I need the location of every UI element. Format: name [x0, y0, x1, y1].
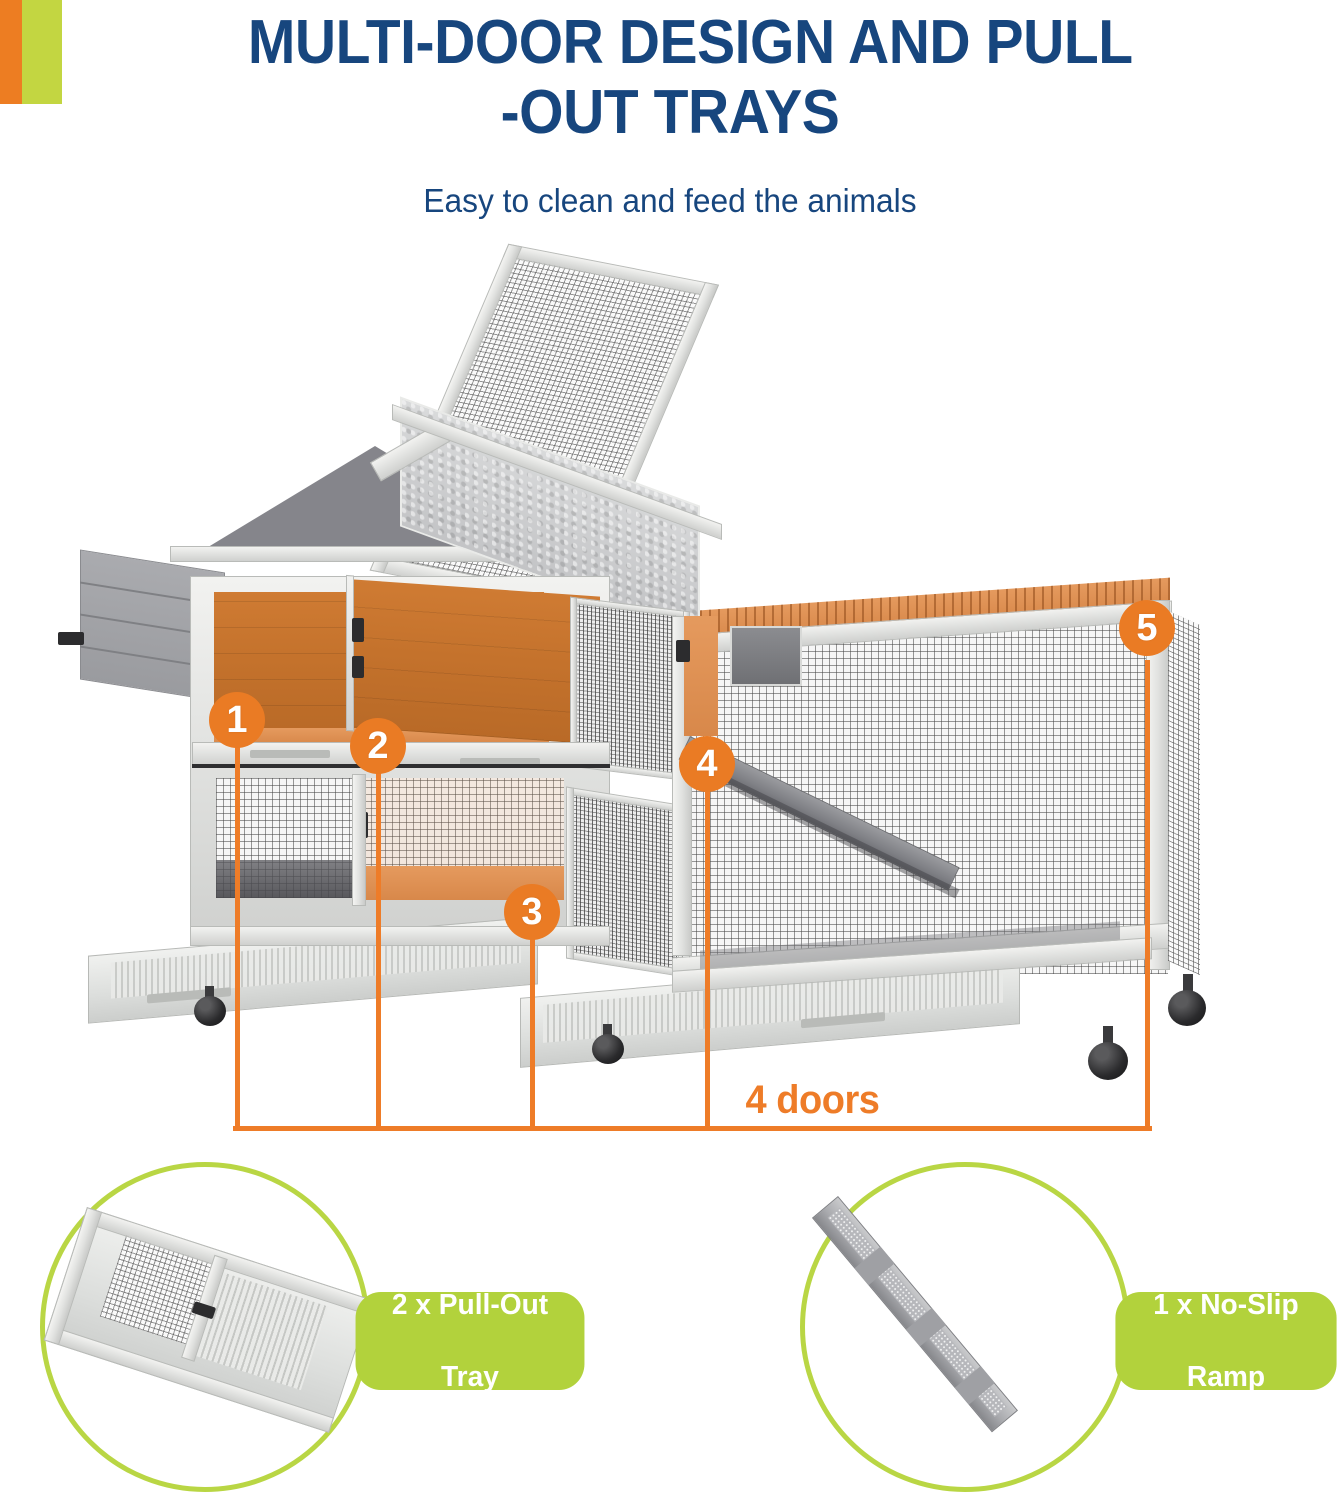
callout-badge-4[interactable]: 4: [679, 736, 735, 792]
run-interior-latch[interactable]: [676, 640, 690, 662]
feature-label-no-slip-ramp: 1 x No-Slip Ramp: [1115, 1292, 1336, 1390]
caster-wheel-2: [592, 1034, 624, 1064]
leader-line-2: [376, 770, 381, 1130]
page-subtitle: Easy to clean and feed the animals: [27, 182, 1313, 220]
leader-line-4: [705, 788, 710, 1130]
infographic-page: MULTI-DOOR DESIGN AND PULL -OUT TRAYS Ea…: [0, 0, 1340, 1500]
leader-line-1: [235, 740, 240, 1130]
caster-wheel-3: [1088, 1042, 1128, 1080]
run-inner-hatch: [730, 626, 802, 686]
callout-badge-1-label: 1: [226, 701, 247, 739]
callout-badge-5[interactable]: 5: [1119, 600, 1175, 656]
doors-count-label: 4 doors: [746, 1078, 880, 1123]
callout-badge-2-label: 2: [367, 727, 388, 765]
callout-badge-3-label: 3: [521, 893, 542, 931]
upper-door-hinge-top: [352, 618, 364, 642]
title-line-1: MULTI-DOOR DESIGN AND PULL: [54, 8, 1287, 78]
leader-line-3: [530, 938, 535, 1130]
tray-handle-upper[interactable]: [250, 750, 330, 758]
title-line-2: -OUT TRAYS: [54, 78, 1287, 148]
callout-badge-3[interactable]: 3: [504, 884, 560, 940]
callout-badge-4-label: 4: [696, 745, 717, 783]
lower-door-stile: [352, 774, 366, 906]
feature-label-pull-out-tray-line2: Tray: [376, 1359, 563, 1395]
run-right-side-mesh: [1168, 611, 1200, 975]
callout-bracket: [233, 1126, 1152, 1131]
upper-door-hinge-bottom: [352, 656, 364, 678]
lower-front-door-open[interactable]: [364, 778, 564, 900]
feature-label-no-slip-ramp-line2: Ramp: [1138, 1359, 1314, 1395]
caster-wheel-1: [194, 996, 226, 1026]
product-illustration: [0, 236, 1340, 1136]
run-interior-post: [684, 616, 718, 736]
side-door-latch[interactable]: [58, 632, 84, 645]
leader-line-5: [1145, 660, 1150, 1130]
feature-label-pull-out-tray-line1: 2 x Pull-Out: [376, 1287, 563, 1323]
page-title: MULTI-DOOR DESIGN AND PULL -OUT TRAYS: [0, 8, 1340, 148]
callout-badge-1[interactable]: 1: [209, 692, 265, 748]
callout-badge-2[interactable]: 2: [350, 718, 406, 774]
feature-label-pull-out-tray: 2 x Pull-Out Tray: [356, 1292, 585, 1390]
lower-door-swung-panel[interactable]: [566, 786, 686, 977]
callout-badge-5-label: 5: [1136, 609, 1157, 647]
feature-label-no-slip-ramp-line1: 1 x No-Slip: [1138, 1287, 1314, 1323]
caster-wheel-4: [1168, 990, 1206, 1026]
